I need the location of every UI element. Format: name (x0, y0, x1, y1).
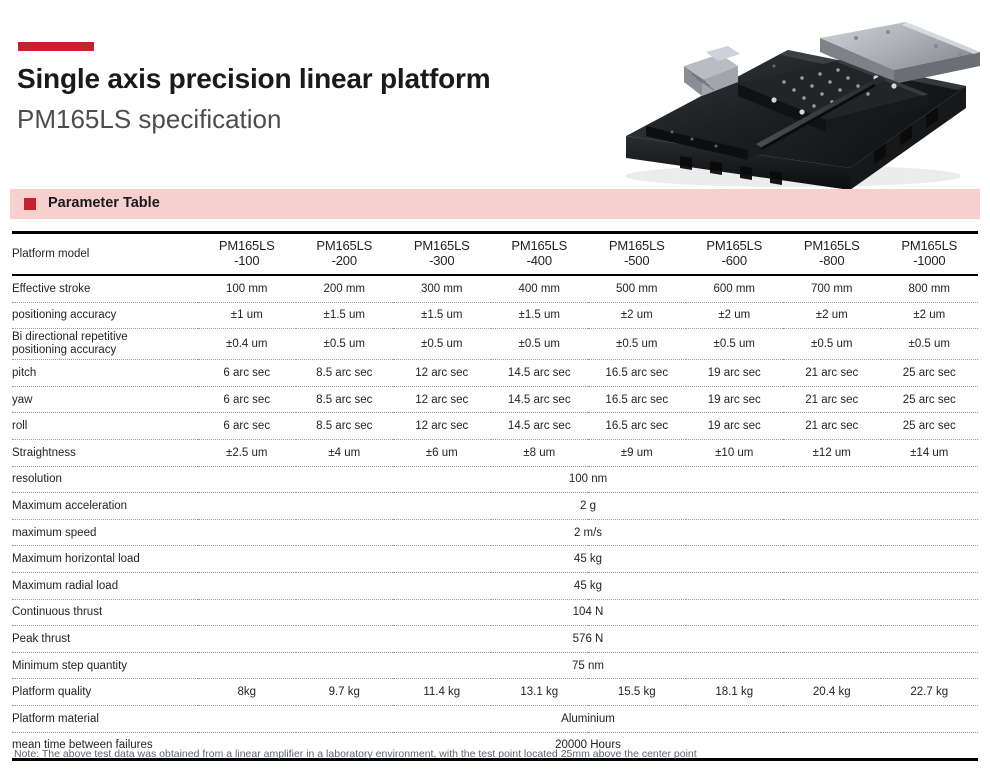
row-value: 6 arc sec (198, 360, 296, 387)
row-value: ±1 um (198, 302, 296, 329)
row-value: ±4 um (296, 439, 394, 466)
row-value-merged: 576 N (198, 626, 978, 653)
row-value-merged: Aluminium (198, 705, 978, 732)
table-row: Platform materialAluminium (12, 705, 978, 732)
row-value: 25 arc sec (881, 360, 979, 387)
row-label: Maximum horizontal load (12, 546, 198, 573)
table-header-row: Platform modelPM165LS-100PM165LS-200PM16… (12, 233, 978, 276)
column-header-model: PM165LS-400 (491, 233, 589, 276)
row-value: ±2 um (783, 302, 881, 329)
table-row: maximum speed2 m/s (12, 519, 978, 546)
model-name: PM165LS (804, 238, 860, 253)
row-value: 14.5 arc sec (491, 413, 589, 440)
model-variant: -100 (198, 254, 296, 269)
row-label: roll (12, 413, 198, 440)
model-variant: -400 (491, 254, 589, 269)
row-value: 400 mm (491, 275, 589, 302)
product-photo (588, 8, 988, 190)
row-value: ±6 um (393, 439, 491, 466)
row-value: 700 mm (783, 275, 881, 302)
section-bullet-icon (24, 198, 36, 210)
table-row: Bi directional repetitivepositioning acc… (12, 329, 978, 360)
table-row: positioning accuracy±1 um±1.5 um±1.5 um±… (12, 302, 978, 329)
row-value: ±0.5 um (588, 329, 686, 360)
row-value: 6 arc sec (198, 386, 296, 413)
model-variant: -300 (393, 254, 491, 269)
row-value: ±2 um (588, 302, 686, 329)
row-value: 100 mm (198, 275, 296, 302)
row-value: 16.5 arc sec (588, 413, 686, 440)
row-value: ±0.5 um (296, 329, 394, 360)
row-label: maximum speed (12, 519, 198, 546)
row-value: ±14 um (881, 439, 979, 466)
row-value: ±2 um (686, 302, 784, 329)
row-value: ±10 um (686, 439, 784, 466)
table-row: Minimum step quantity75 nm (12, 652, 978, 679)
row-value: 19 arc sec (686, 413, 784, 440)
column-header-model: PM165LS-800 (783, 233, 881, 276)
table-row: Peak thrust576 N (12, 626, 978, 653)
row-value: 600 mm (686, 275, 784, 302)
table-row: Continuous thrust104 N (12, 599, 978, 626)
row-label: Maximum acceleration (12, 493, 198, 520)
row-value: 21 arc sec (783, 386, 881, 413)
model-name: PM165LS (316, 238, 372, 253)
table-row: Maximum horizontal load45 kg (12, 546, 978, 573)
table-row: Straightness±2.5 um±4 um±6 um±8 um±9 um±… (12, 439, 978, 466)
row-value: ±9 um (588, 439, 686, 466)
row-value-merged: 2 m/s (198, 519, 978, 546)
table-row: roll6 arc sec8.5 arc sec12 arc sec14.5 a… (12, 413, 978, 440)
row-value: 22.7 kg (881, 679, 979, 706)
row-value: ±0.5 um (686, 329, 784, 360)
row-value-merged: 100 nm (198, 466, 978, 493)
row-label: pitch (12, 360, 198, 387)
row-value: 19 arc sec (686, 360, 784, 387)
row-value: 6 arc sec (198, 413, 296, 440)
row-value: 21 arc sec (783, 413, 881, 440)
row-value: 14.5 arc sec (491, 360, 589, 387)
row-value-merged: 75 nm (198, 652, 978, 679)
row-value: 25 arc sec (881, 413, 979, 440)
model-variant: -600 (686, 254, 784, 269)
row-label: Minimum step quantity (12, 652, 198, 679)
row-value: 300 mm (393, 275, 491, 302)
row-label: Straightness (12, 439, 198, 466)
row-value: 19 arc sec (686, 386, 784, 413)
row-label: positioning accuracy (12, 302, 198, 329)
column-header-model: PM165LS-600 (686, 233, 784, 276)
row-value: 200 mm (296, 275, 394, 302)
column-header-model: PM165LS-200 (296, 233, 394, 276)
row-value: 15.5 kg (588, 679, 686, 706)
row-value: 13.1 kg (491, 679, 589, 706)
row-value: 8kg (198, 679, 296, 706)
row-value: 20.4 kg (783, 679, 881, 706)
table-row: resolution100 nm (12, 466, 978, 493)
row-value: ±2.5 um (198, 439, 296, 466)
row-value-merged: 45 kg (198, 546, 978, 573)
accent-bar (18, 42, 94, 51)
row-value: ±1.5 um (296, 302, 394, 329)
row-value: 21 arc sec (783, 360, 881, 387)
table-row: yaw6 arc sec8.5 arc sec12 arc sec14.5 ar… (12, 386, 978, 413)
row-label: Continuous thrust (12, 599, 198, 626)
row-value: 8.5 arc sec (296, 413, 394, 440)
row-label: yaw (12, 386, 198, 413)
model-name: PM165LS (901, 238, 957, 253)
row-value: 25 arc sec (881, 386, 979, 413)
row-value: 16.5 arc sec (588, 360, 686, 387)
table-row: Maximum radial load45 kg (12, 572, 978, 599)
row-label-line2: positioning accuracy (12, 344, 198, 358)
row-value: 18.1 kg (686, 679, 784, 706)
row-value: ±0.4 um (198, 329, 296, 360)
table-row: Effective stroke100 mm200 mm300 mm400 mm… (12, 275, 978, 302)
row-value: ±1.5 um (491, 302, 589, 329)
model-variant: -200 (296, 254, 394, 269)
row-value: 12 arc sec (393, 360, 491, 387)
row-value: ±0.5 um (783, 329, 881, 360)
model-name: PM165LS (219, 238, 275, 253)
model-variant: -500 (588, 254, 686, 269)
row-label: resolution (12, 466, 198, 493)
footnote: Note: The above test data was obtained f… (14, 748, 697, 760)
row-label: Effective stroke (12, 275, 198, 302)
page-subtitle: PM165LS specification (17, 104, 281, 135)
row-value-merged: 45 kg (198, 572, 978, 599)
column-header-model: PM165LS-1000 (881, 233, 979, 276)
specification-table: Platform modelPM165LS-100PM165LS-200PM16… (12, 231, 978, 761)
row-value: ±12 um (783, 439, 881, 466)
row-value: 14.5 arc sec (491, 386, 589, 413)
column-header-model: PM165LS-100 (198, 233, 296, 276)
model-name: PM165LS (609, 238, 665, 253)
column-header-model: PM165LS-500 (588, 233, 686, 276)
row-value-merged: 2 g (198, 493, 978, 520)
row-value: 12 arc sec (393, 413, 491, 440)
row-value: 11.4 kg (393, 679, 491, 706)
row-value: 16.5 arc sec (588, 386, 686, 413)
row-value: ±1.5 um (393, 302, 491, 329)
row-value: 800 mm (881, 275, 979, 302)
model-variant: -800 (783, 254, 881, 269)
row-value: ±8 um (491, 439, 589, 466)
row-label: Platform material (12, 705, 198, 732)
table-row: pitch6 arc sec8.5 arc sec12 arc sec14.5 … (12, 360, 978, 387)
model-name: PM165LS (511, 238, 567, 253)
row-value: 8.5 arc sec (296, 386, 394, 413)
column-header-model: PM165LS-300 (393, 233, 491, 276)
row-label: Peak thrust (12, 626, 198, 653)
row-value: ±0.5 um (393, 329, 491, 360)
model-variant: -1000 (881, 254, 979, 269)
row-value: ±0.5 um (491, 329, 589, 360)
table-row: Platform quality8kg9.7 kg11.4 kg13.1 kg1… (12, 679, 978, 706)
model-name: PM165LS (414, 238, 470, 253)
row-value: ±0.5 um (881, 329, 979, 360)
column-header-platform-model: Platform model (12, 233, 198, 276)
row-label: Maximum radial load (12, 572, 198, 599)
row-value: ±2 um (881, 302, 979, 329)
row-label: Platform quality (12, 679, 198, 706)
row-label: Bi directional repetitivepositioning acc… (12, 329, 198, 360)
row-value: 8.5 arc sec (296, 360, 394, 387)
row-value: 500 mm (588, 275, 686, 302)
page-title: Single axis precision linear platform (17, 63, 490, 95)
section-title: Parameter Table (48, 195, 160, 211)
row-label-line1: Bi directional repetitive (12, 331, 198, 345)
row-value: 12 arc sec (393, 386, 491, 413)
row-value: 9.7 kg (296, 679, 394, 706)
row-value-merged: 104 N (198, 599, 978, 626)
model-name: PM165LS (706, 238, 762, 253)
table-row: Maximum acceleration2 g (12, 493, 978, 520)
